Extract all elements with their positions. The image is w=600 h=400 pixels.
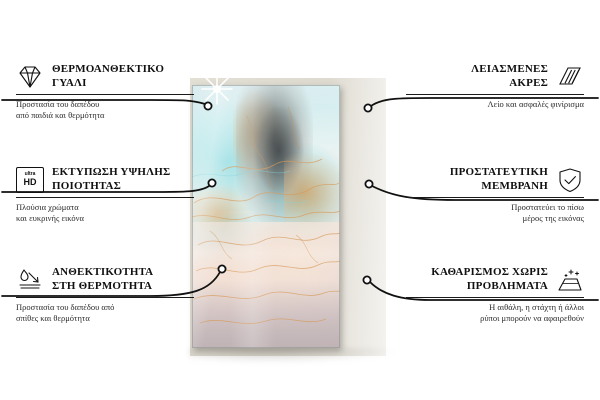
feature-header: ΑΝΘΕΚΤΙΚΟΤΗΤΑ ΣΤΗ ΘΕΡΜΟΤΗΤΑ [16,266,194,293]
feature-header: ΠΡΟΣΤΑΤΕΥΤΙΚΗ ΜΕΜΒΡΑΝΗ [406,166,584,193]
feature-title: ΛΕΙΑΣΜΕΝΕΣ ΑΚΡΕΣ [471,63,548,90]
marble-artwork [192,85,340,348]
glass-panel [192,85,340,348]
diamond-icon [16,64,44,90]
feature-smooth-edges: ΛΕΙΑΣΜΕΝΕΣ ΑΚΡΕΣ Λείο και ασφαλές φινίρι… [406,63,584,110]
feature-header: ΚΑΘΑΡΙΣΜΟΣ ΧΩΡΙΣ ΠΡΟΒΛΗΜΑΤΑ [406,266,584,293]
smooth-edges-icon [556,64,584,90]
feature-title: ΚΑΘΑΡΙΣΜΟΣ ΧΩΡΙΣ ΠΡΟΒΛΗΜΑΤΑ [431,266,548,293]
shield-check-icon [556,167,584,193]
feature-description: Λείο και ασφαλές φινίρισμα [406,99,584,110]
feature-description: Προστασία του δαπέδου από σπίθες και θερ… [16,302,194,324]
feature-protective-membrane: ΠΡΟΣΤΑΤΕΥΤΙΚΗ ΜΕΜΒΡΑΝΗ Προστατεύει το πί… [406,166,584,224]
divider [406,197,584,198]
feature-high-quality-print: ultra HD ΕΚΤΥΠΩΣΗ ΥΨΗΛΗΣ ΠΟΙΟΤΗΤΑΣ Πλούσ… [16,166,194,224]
infographic-stage: ΘΕΡΜΟΑΝΘΕΚΤΙΚΟ ΓΥΑΛΙ Προστασία του δαπέδ… [0,0,600,400]
feature-description: Πλούσια χρώματα και ευκρινής εικόνα [16,202,194,224]
feature-description: Προστασία του δαπέδου από παιδιά και θερ… [16,99,194,121]
ultra-hd-icon: ultra HD [16,167,44,193]
flame-resistance-icon [16,267,44,293]
feature-easy-cleaning: ΚΑΘΑΡΙΣΜΟΣ ΧΩΡΙΣ ΠΡΟΒΛΗΜΑΤΑ [406,266,584,324]
art-gold-veins [192,85,340,348]
panel-drop-shadow [188,348,398,364]
feature-description: Η αιθάλη, η στάχτη ή άλλοι ρύποι μπορούν… [406,302,584,324]
feature-header: ΛΕΙΑΣΜΕΝΕΣ ΑΚΡΕΣ [406,63,584,90]
feature-description: Προστατεύει το πίσω μέρος της εικόνας [406,202,584,224]
feature-title: ΕΚΤΥΠΩΣΗ ΥΨΗΛΗΣ ΠΟΙΟΤΗΤΑΣ [52,166,170,193]
feature-title: ΑΝΘΕΚΤΙΚΟΤΗΤΑ ΣΤΗ ΘΕΡΜΟΤΗΤΑ [52,266,153,293]
artwork-image [192,85,340,348]
feature-header: ΘΕΡΜΟΑΝΘΕΚΤΙΚΟ ΓΥΑΛΙ [16,63,194,90]
divider [16,94,194,95]
divider [406,94,584,95]
divider [16,197,194,198]
feature-title: ΘΕΡΜΟΑΝΘΕΚΤΙΚΟ ΓΥΑΛΙ [52,63,164,90]
feature-heat-resistant-glass: ΘΕΡΜΟΑΝΘΕΚΤΙΚΟ ΓΥΑΛΙ Προστασία του δαπέδ… [16,63,194,121]
easy-clean-icon [556,267,584,293]
hd-label: HD [24,178,37,187]
divider [16,297,194,298]
feature-title: ΠΡΟΣΤΑΤΕΥΤΙΚΗ ΜΕΜΒΡΑΝΗ [450,166,548,193]
feature-heat-durability: ΑΝΘΕΚΤΙΚΟΤΗΤΑ ΣΤΗ ΘΕΡΜΟΤΗΤΑ Προστασία το… [16,266,194,324]
divider [406,297,584,298]
feature-header: ultra HD ΕΚΤΥΠΩΣΗ ΥΨΗΛΗΣ ΠΟΙΟΤΗΤΑΣ [16,166,194,193]
